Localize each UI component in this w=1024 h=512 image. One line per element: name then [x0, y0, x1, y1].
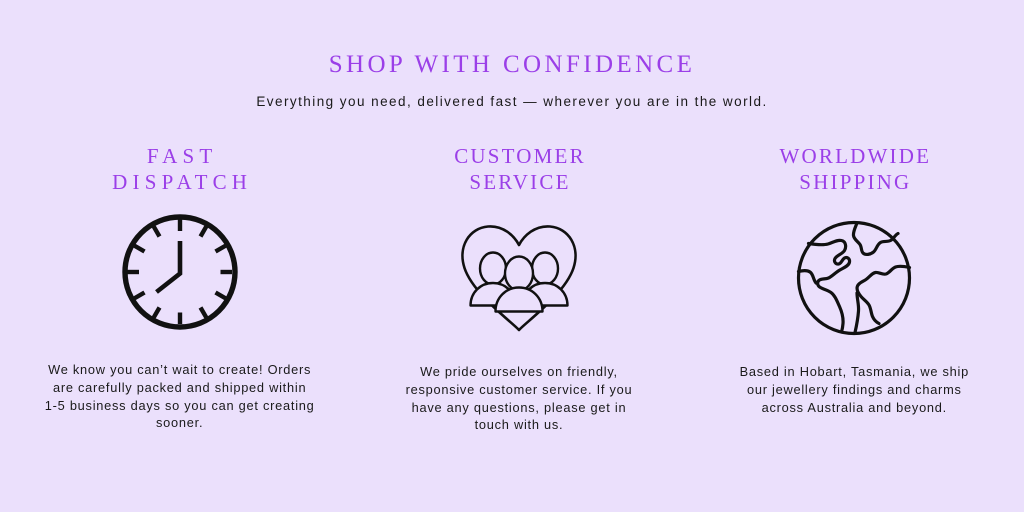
- feature-title-line-2: SERVICE: [469, 170, 570, 194]
- feature-title-line-2: SHIPPING: [799, 170, 911, 194]
- banner-header: SHOP WITH CONFIDENCE Everything you need…: [0, 50, 1024, 111]
- feature-title-line-1: CUSTOMER: [454, 144, 586, 168]
- feature-column-fast-dispatch: FAST DISPATCH: [10, 143, 349, 432]
- feature-columns: FAST DISPATCH: [0, 143, 1024, 434]
- page-subtitle: Everything you need, delivered fast — wh…: [0, 80, 1024, 111]
- feature-column-customer-service: CUSTOMER SERVICE We pride ourselves: [349, 143, 688, 434]
- feature-column-worldwide-shipping: WORLDWIDE SHIPPING Based in Hobart, Tasm…: [685, 143, 1024, 416]
- feature-title-customer-service: CUSTOMER SERVICE: [452, 143, 586, 195]
- shop-with-confidence-banner: SHOP WITH CONFIDENCE Everything you need…: [0, 0, 1024, 512]
- feature-body-fast-dispatch: We know you can’t wait to create! Orders…: [45, 361, 315, 432]
- feature-body-customer-service: We pride ourselves on friendly, responsi…: [395, 363, 643, 434]
- globe-icon: [795, 213, 913, 343]
- feature-title-line-2: DISPATCH: [112, 170, 252, 194]
- clock-icon: [121, 207, 239, 337]
- feature-title-line-1: WORLDWIDE: [780, 144, 932, 168]
- feature-title-worldwide-shipping: WORLDWIDE SHIPPING: [778, 143, 932, 195]
- page-title: SHOP WITH CONFIDENCE: [0, 50, 1024, 80]
- feature-title-line-1: FAST: [147, 144, 218, 168]
- feature-body-worldwide-shipping: Based in Hobart, Tasmania, we ship our j…: [728, 363, 980, 416]
- heart-with-people-icon: [457, 213, 581, 343]
- feature-title-fast-dispatch: FAST DISPATCH: [107, 143, 252, 195]
